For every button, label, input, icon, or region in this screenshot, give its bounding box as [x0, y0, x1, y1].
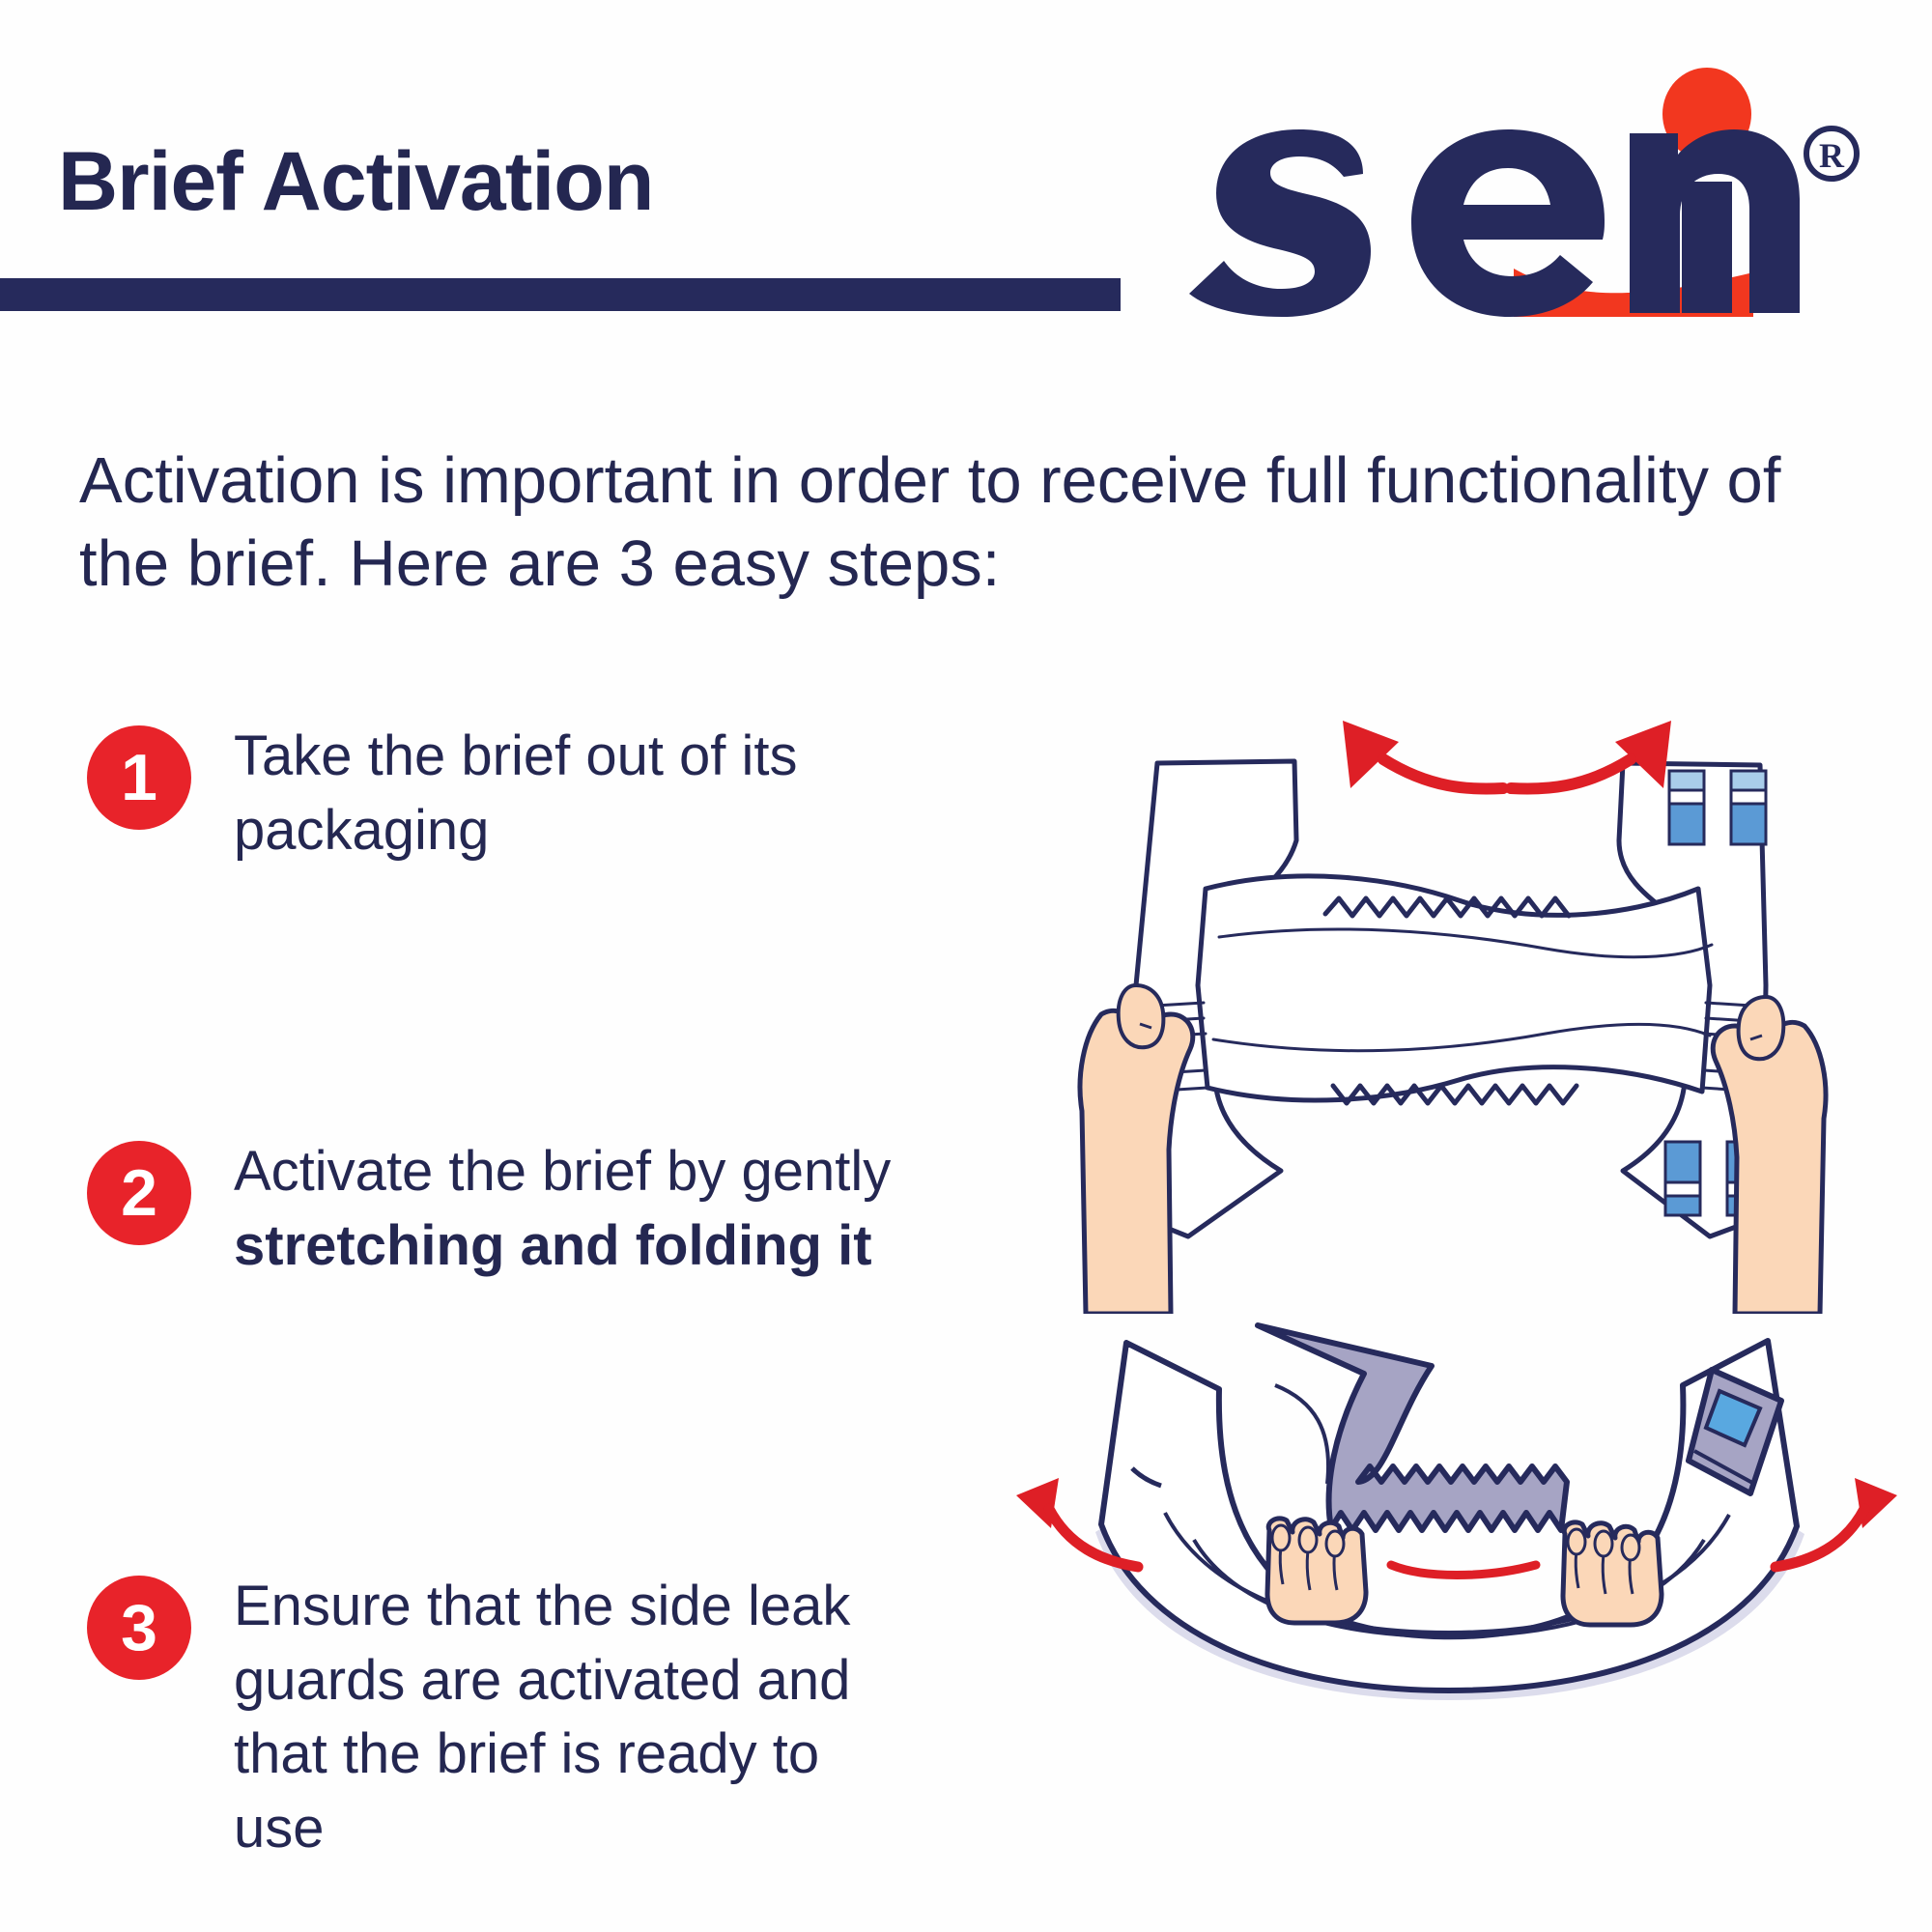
- seni-logo: R: [1174, 68, 1860, 319]
- guard-inner-contour: [1275, 1385, 1328, 1484]
- svg-text:R: R: [1819, 136, 1845, 175]
- step-text-2-bold: stretching and folding it: [234, 1214, 872, 1277]
- step-text-3: Ensure that the side leak guards are act…: [234, 1570, 910, 1865]
- step-text-1-normal: Take the brief out of its packaging: [234, 724, 798, 862]
- title-underline-rule: [0, 278, 1121, 311]
- brief-fold-illustration: [995, 1285, 1922, 1787]
- step-text-2-normal: Activate the brief by gently: [234, 1140, 891, 1203]
- logo-letter-s: [1189, 129, 1371, 317]
- page-title: Brief Activation: [58, 140, 653, 223]
- step-text-1: Take the brief out of its packaging: [234, 720, 910, 867]
- stretch-arrow-left: [1343, 721, 1503, 789]
- registered-trademark-icon: R: [1802, 124, 1861, 184]
- step-number-badge-1: 1: [87, 725, 191, 830]
- page-header: Brief Activation R: [0, 0, 1932, 328]
- logo-letter-i-stem: [1682, 182, 1732, 313]
- step-number-badge-2: 2: [87, 1141, 191, 1245]
- logo-letter-e: [1411, 129, 1605, 317]
- fold-right-hand: [1563, 1522, 1662, 1625]
- step-text-3-normal: Ensure that the side leak guards are act…: [234, 1575, 850, 1860]
- step-number-badge-3: 3: [87, 1576, 191, 1680]
- fold-center-arc: [1391, 1565, 1536, 1576]
- brief-stretch-illustration: [1043, 696, 1913, 1314]
- intro-paragraph: Activation is important in order to rece…: [79, 440, 1818, 606]
- side-leak-guard: [1258, 1325, 1567, 1530]
- fold-left-hand: [1267, 1519, 1366, 1623]
- step-text-2: Activate the brief by gently stretching …: [234, 1135, 910, 1283]
